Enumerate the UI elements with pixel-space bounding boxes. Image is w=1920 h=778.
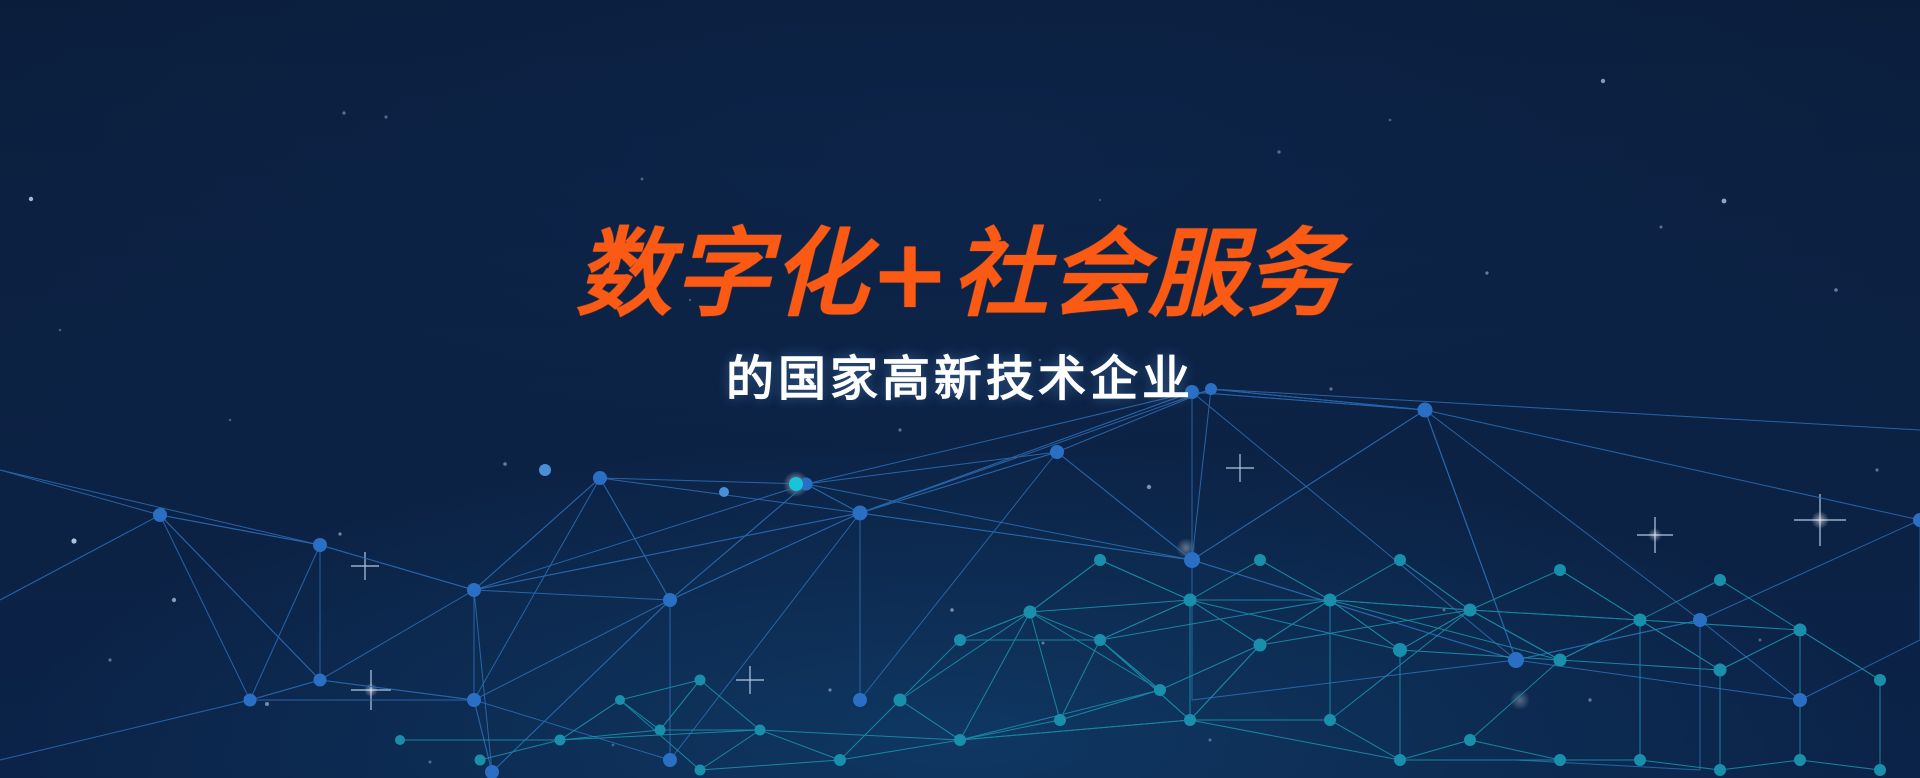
- hero-banner: 数字化+社会服务 的国家高新技术企业: [0, 0, 1920, 778]
- hero-text-block: 数字化+社会服务 的国家高新技术企业: [0, 224, 1920, 409]
- page-subtitle: 的国家高新技术企业: [0, 339, 1920, 409]
- page-title: 数字化+社会服务: [0, 224, 1920, 325]
